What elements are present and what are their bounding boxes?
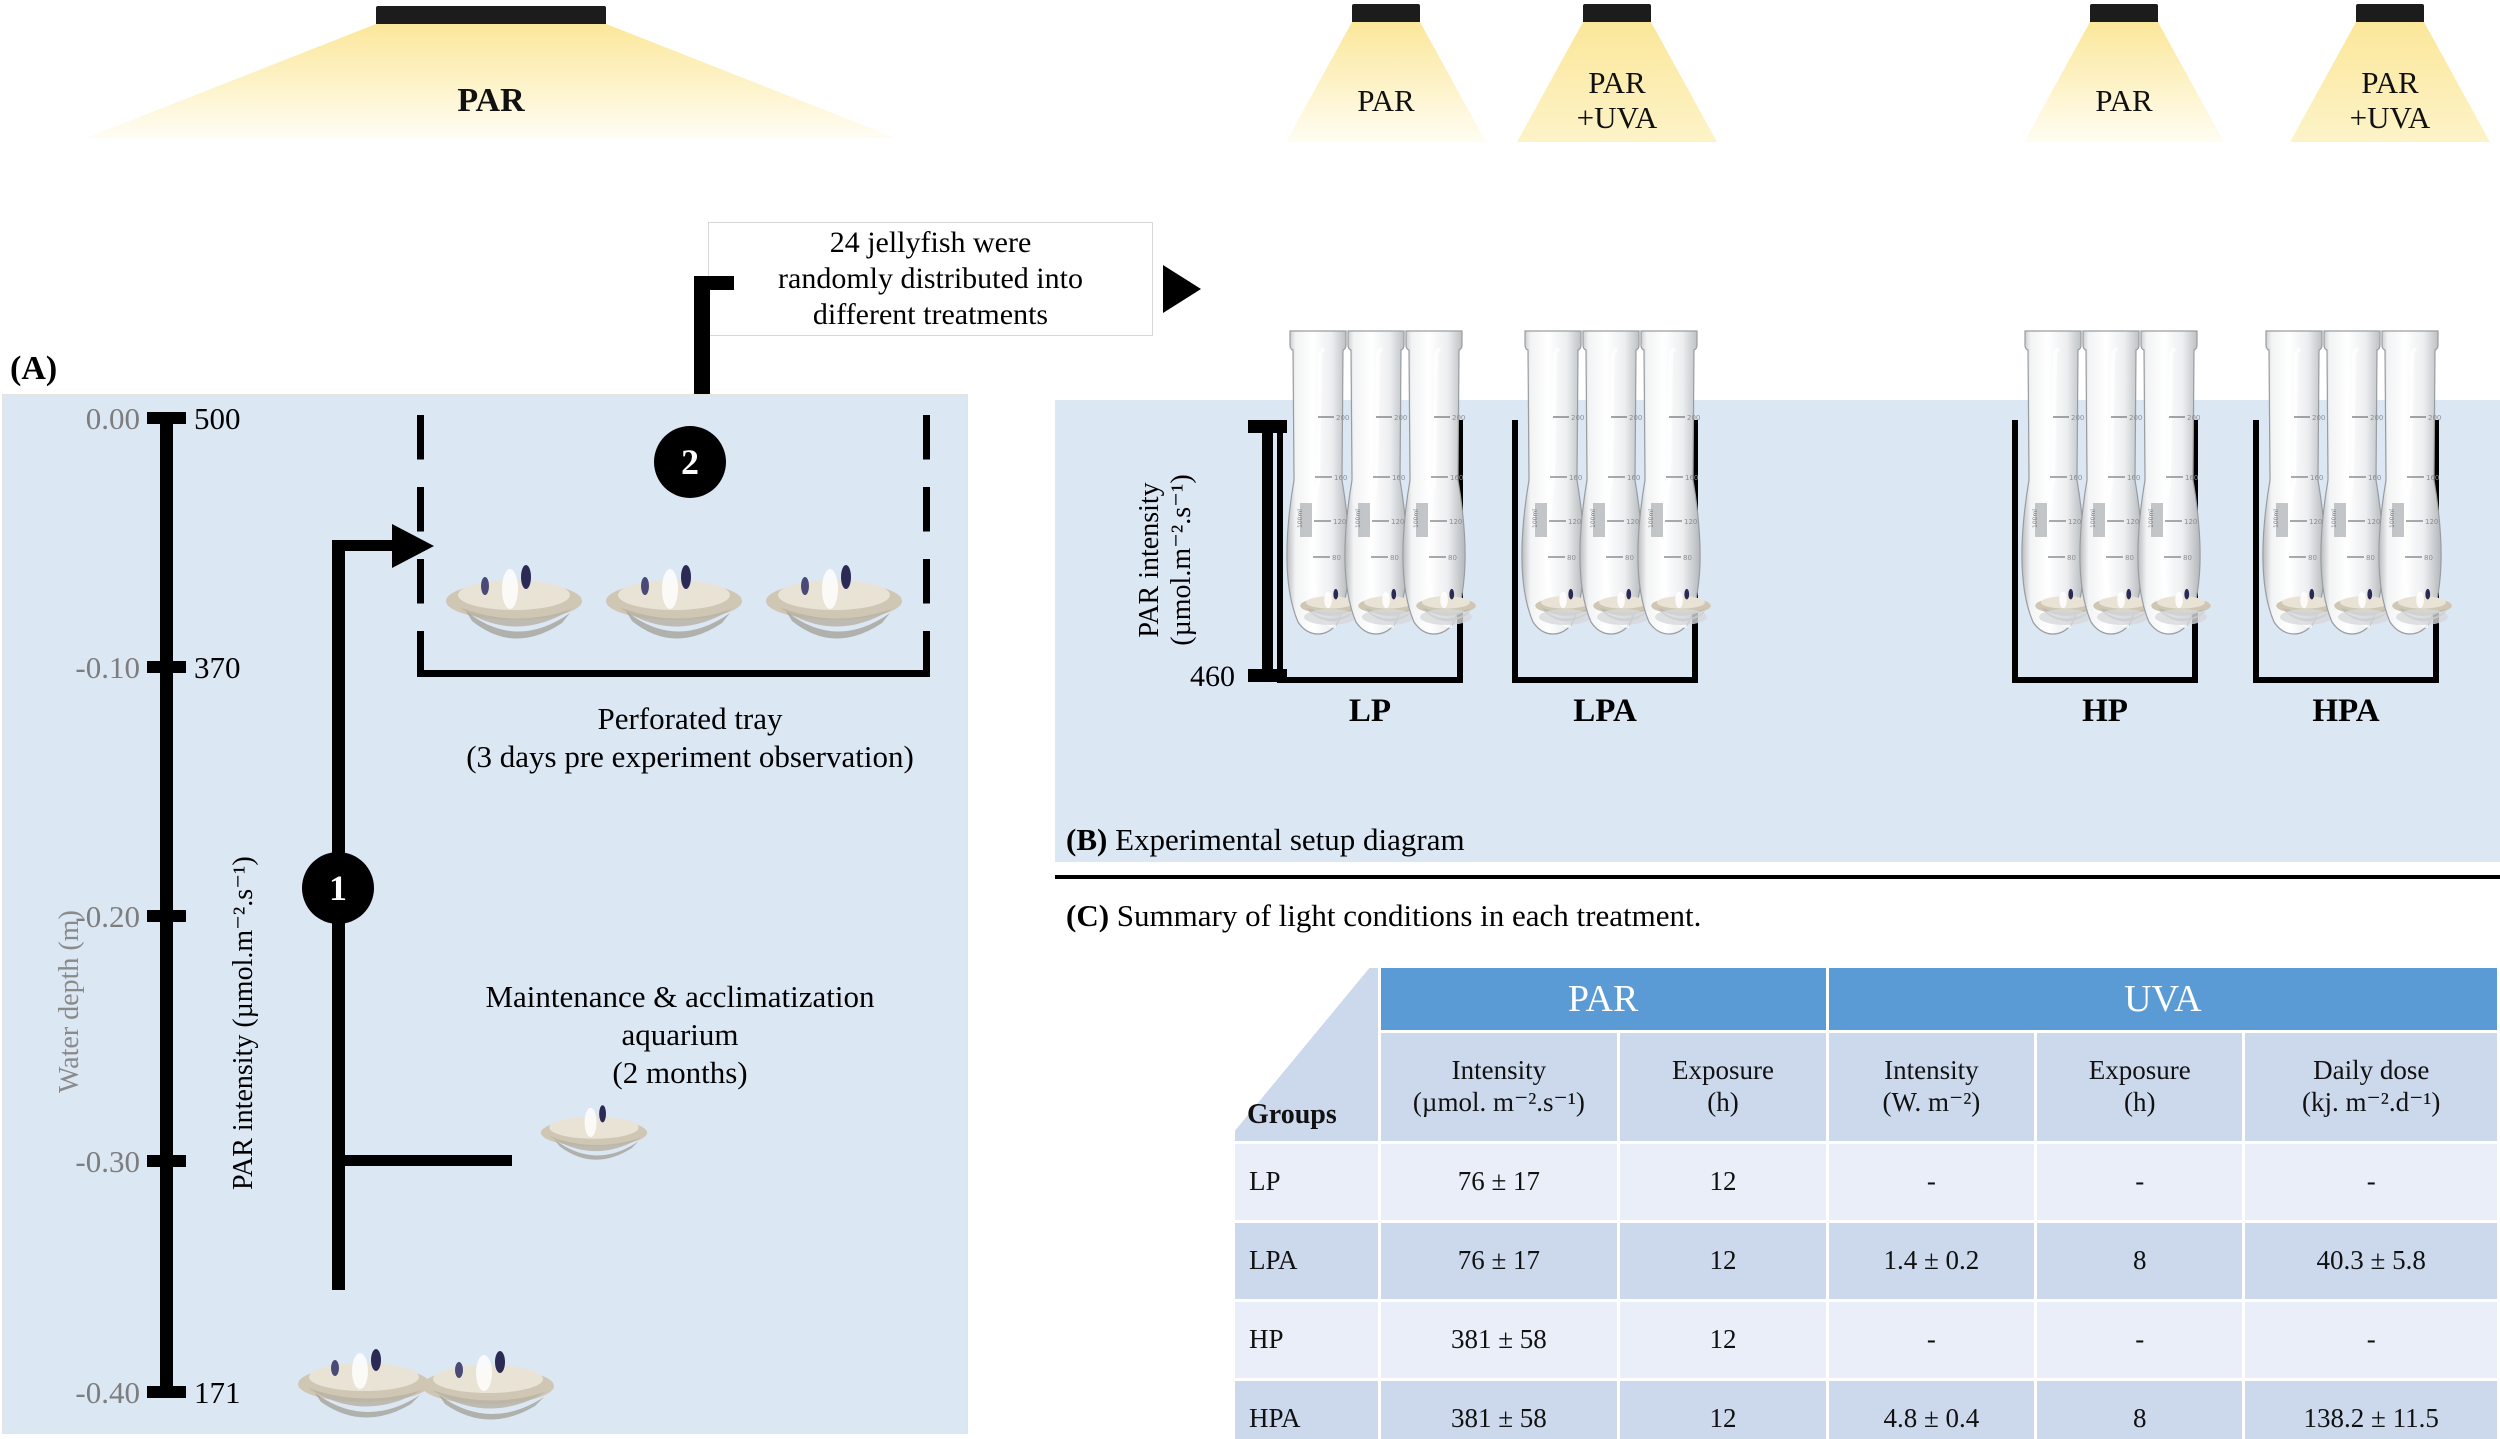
row-0-uva-dose: - (2245, 1144, 2497, 1220)
row-0-group: LP (1235, 1144, 1378, 1220)
row-3-uva-exposure: 8 (2037, 1381, 2242, 1439)
tank-hpa-wall-left (2253, 420, 2259, 683)
par-tick-label-0: 500 (194, 401, 314, 437)
table-corner-groups-label: Groups (1235, 968, 1378, 1141)
hp-light-cone (2024, 22, 2224, 142)
depth-tick-label-3: -0.30 (10, 1144, 140, 1180)
light-conditions-table: Groups PAR UVA Intensity (µmol. m⁻².s⁻¹)… (1232, 965, 2500, 1439)
panel-a-par-axis-title: PAR intensity (µmol.m⁻².s⁻¹) (226, 856, 260, 1190)
row-2-uva-exposure: - (2037, 1302, 2242, 1378)
row-0-uva-intensity: - (1829, 1144, 2034, 1220)
row-3-uva-dose: 138.2 ± 11.5 (2245, 1381, 2497, 1439)
hpa-lamp-fixture (2356, 4, 2424, 24)
row-1-uva-exposure: 8 (2037, 1223, 2242, 1299)
tank-hp-wall-left (2012, 420, 2018, 683)
panel-a-letter: (A) (10, 350, 57, 388)
tank-lpa-wall-right (1692, 420, 1698, 683)
tank-hpa-wall-right (2433, 420, 2439, 683)
tank-hp (2012, 420, 2198, 683)
tank-lp-wall-bottom (1277, 677, 1463, 683)
row-2-par-exposure: 12 (1620, 1302, 1825, 1378)
table-row: LP 76 ± 17 12 - - - (1235, 1144, 2497, 1220)
aquarium-jellyfish-mid (534, 1096, 654, 1166)
tank-hp-wall-bottom (2012, 677, 2198, 683)
tank-lpa (1512, 420, 1698, 683)
step-1-marker: 1 (302, 852, 374, 924)
row-0-par-intensity: 76 ± 17 (1381, 1144, 1618, 1220)
par-tick-label-1: 370 (194, 650, 314, 686)
row-2-group: HP (1235, 1302, 1378, 1378)
light-conditions-table-wrapper: Groups PAR UVA Intensity (µmol. m⁻².s⁻¹)… (1232, 965, 2500, 1439)
lpa-lamp-label: PAR +UVA (1517, 66, 1717, 135)
row-3-uva-intensity: 4.8 ± 0.4 (1829, 1381, 2034, 1439)
step-1-connector-horizontal (332, 1155, 512, 1166)
acclimatization-light-cone (86, 24, 896, 138)
table-subheader-par-exposure: Exposure (h) (1620, 1033, 1825, 1141)
row-0-par-exposure: 12 (1620, 1144, 1825, 1220)
row-1-uva-intensity: 1.4 ± 0.2 (1829, 1223, 2034, 1299)
group-label-lpa: LPA (1512, 693, 1698, 730)
step-2-marker: 2 (654, 426, 726, 498)
panel-c-caption-text: Summary of light conditions in each trea… (1117, 898, 1702, 933)
table-row: LPA 76 ± 17 12 1.4 ± 0.2 8 40.3 ± 5.8 (1235, 1223, 2497, 1299)
lp-lamp-fixture (1352, 4, 1420, 24)
lpa-lamp-fixture (1583, 4, 1651, 24)
panel-a-tick-4 (147, 1386, 186, 1398)
row-2-uva-intensity: - (1829, 1302, 2034, 1378)
hp-lamp-fixture (2090, 4, 2158, 24)
depth-tick-label-1: -0.10 (10, 650, 140, 686)
row-1-par-intensity: 76 ± 17 (1381, 1223, 1618, 1299)
group-label-hpa: HPA (2253, 693, 2439, 730)
row-1-uva-dose: 40.3 ± 5.8 (2245, 1223, 2497, 1299)
hp-lamp-label: PAR (2024, 84, 2224, 119)
table-row: HP 381 ± 58 12 - - - (1235, 1302, 2497, 1378)
lp-light-cone (1286, 22, 1486, 142)
row-1-group: LPA (1235, 1223, 1378, 1299)
table-header-main-row: Groups PAR UVA (1235, 968, 2497, 1030)
table-subheader-par-intensity: Intensity (µmol. m⁻².s⁻¹) (1381, 1033, 1618, 1141)
panel-c-caption: (C) Summary of light conditions in each … (1066, 898, 1701, 934)
table-header-sub-row: Intensity (µmol. m⁻².s⁻¹) Exposure (h) I… (1235, 1033, 2497, 1141)
row-1-par-exposure: 12 (1620, 1223, 1825, 1299)
table-subheader-uva-exposure: Exposure (h) (2037, 1033, 2242, 1141)
table-header-uva: UVA (1829, 968, 2497, 1030)
tank-hpa-wall-bottom (2253, 677, 2439, 683)
panel-b-letter: (B) (1066, 822, 1107, 857)
perforated-tray-caption: Perforated tray (3 days pre experiment o… (380, 700, 1000, 776)
tray-jellyfish-group (439, 549, 909, 669)
panel-a-tick-3 (147, 1155, 186, 1167)
panel-c-letter: (C) (1066, 898, 1109, 933)
table-subheader-uva-intensity: Intensity (W. m⁻²) (1829, 1033, 2034, 1141)
row-2-par-intensity: 381 ± 58 (1381, 1302, 1618, 1378)
acclimatization-lamp-label: PAR (86, 82, 896, 120)
tray-wall-right (923, 415, 930, 677)
row-3-par-intensity: 381 ± 58 (1381, 1381, 1618, 1439)
panel-b-caption: (B) Experimental setup diagram (1066, 822, 1465, 858)
tank-lp-wall-right (1457, 420, 1463, 683)
group-label-lp: LP (1277, 693, 1463, 730)
panel-a-axis-line (160, 412, 173, 1398)
panel-a-tick-0 (147, 412, 186, 424)
row-3-par-exposure: 12 (1620, 1381, 1825, 1439)
row-0-uva-exposure: - (2037, 1144, 2242, 1220)
panel-b-par-axis-title: PAR intensity (µmol.m⁻².s⁻¹) (1134, 430, 1198, 690)
panel-b-axis-line (1262, 420, 1273, 682)
aquarium-caption: Maintenance & acclimatization aquarium (… (400, 978, 960, 1091)
tank-lpa-wall-bottom (1512, 677, 1698, 683)
tank-hp-wall-right (2192, 420, 2198, 683)
step-1-arrowhead-icon (392, 524, 434, 568)
panel-b-divider (1055, 875, 2500, 879)
lp-lamp-label: PAR (1286, 84, 1486, 119)
depth-tick-label-4: -0.40 (10, 1375, 140, 1411)
callout-arrow-icon (1163, 265, 1201, 313)
table-subheader-uva-dose: Daily dose (kj. m⁻².d⁻¹) (2245, 1033, 2497, 1141)
tray-floor (417, 670, 930, 677)
tank-lp (1277, 420, 1463, 683)
panel-a-tick-1 (147, 661, 186, 673)
callout-box: 24 jellyfish were randomly distributed i… (708, 222, 1153, 336)
tank-hpa (2253, 420, 2439, 683)
panel-a-tick-2 (147, 910, 186, 922)
callout-connector-stub (694, 276, 734, 290)
acclimatization-lamp-fixture (376, 6, 606, 26)
panel-b-caption-text: Experimental setup diagram (1115, 822, 1465, 857)
tank-lp-wall-left (1277, 420, 1283, 683)
depth-tick-label-0: 0.00 (10, 401, 140, 437)
table-header-par: PAR (1381, 968, 1826, 1030)
row-3-group: HPA (1235, 1381, 1378, 1439)
aquarium-jellyfish-bottom-right (414, 1340, 564, 1426)
group-label-hp: HP (2012, 693, 2198, 730)
water-depth-axis-title: Water depth (m) (54, 910, 86, 1093)
row-2-uva-dose: - (2245, 1302, 2497, 1378)
panel-b-axis-value: 460 (1190, 660, 1235, 694)
table-row: HPA 381 ± 58 12 4.8 ± 0.4 8 138.2 ± 11.5 (1235, 1381, 2497, 1439)
tank-lpa-wall-left (1512, 420, 1518, 683)
hpa-lamp-label: PAR +UVA (2290, 66, 2490, 135)
